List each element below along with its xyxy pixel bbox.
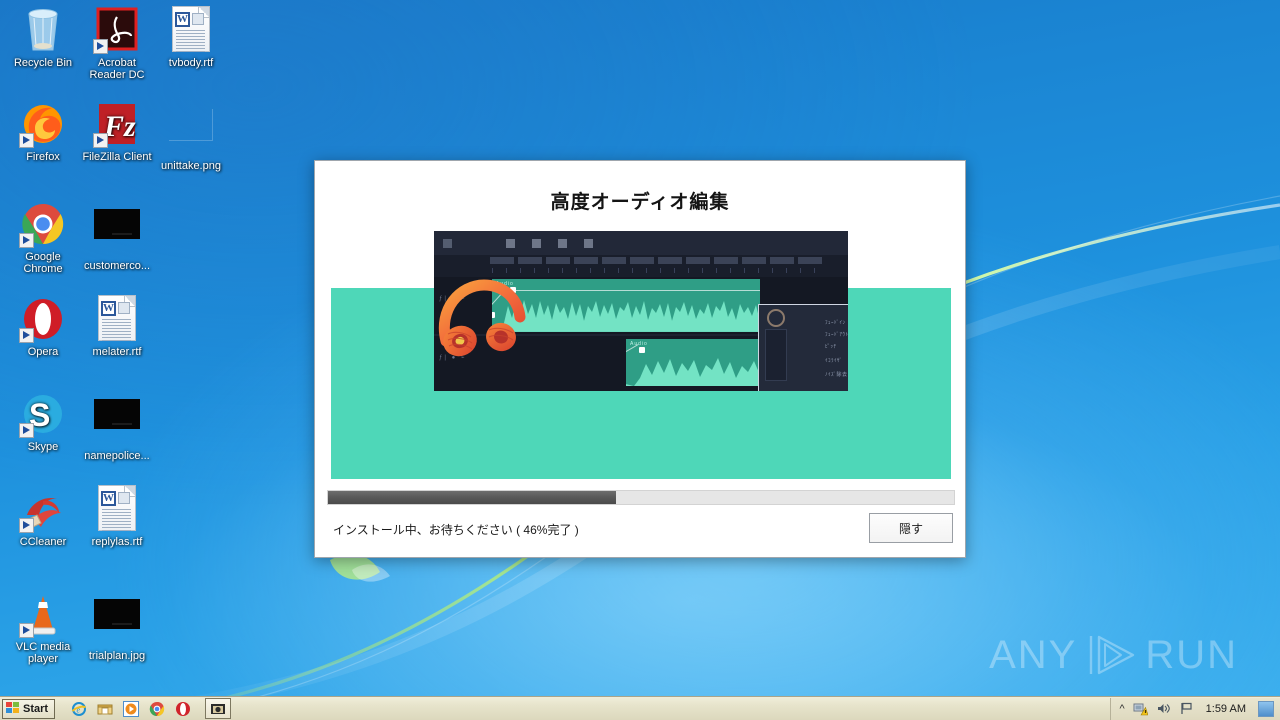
denoise-label: ﾉｲｽﾞ除去 (825, 371, 848, 378)
desktop-icon-label: replylas.rtf (80, 536, 154, 548)
google-chrome-icon[interactable] (149, 701, 165, 717)
svg-text:e: e (77, 705, 81, 714)
task-button-group (205, 698, 231, 719)
desktop-icon-image-file[interactable]: namepolice... (80, 390, 154, 462)
headphones-illustration (434, 279, 529, 364)
desktop-icon-ccleaner[interactable]: CCleaner (6, 485, 80, 548)
shortcut-overlay-icon (19, 328, 34, 343)
desktop-icon-label: melater.rtf (80, 346, 154, 358)
anyrun-watermark: ANY RUN (989, 632, 1238, 678)
desktop-icon-rtf-document[interactable]: Wtvbody.rtf (154, 6, 228, 69)
desktop-icon-label: trialplan.jpg (80, 650, 154, 662)
desktop-icon-png-image[interactable]: unittake.png (154, 100, 228, 172)
image-file-icon (93, 209, 141, 257)
audio-editor-screenshot: ƒ| ● ⌁ Audio ƒ| ● ⌁ Audio (434, 231, 848, 391)
windows-logo-icon (6, 702, 20, 715)
firefox-icon (19, 100, 67, 148)
desktop-icon-vlc[interactable]: VLC media player (6, 590, 80, 665)
rtf-document-icon: W (93, 295, 141, 343)
editor-toolbar (434, 231, 848, 255)
shortcut-overlay-icon (19, 133, 34, 148)
filezilla-icon: Fz (93, 100, 141, 148)
rtf-document-icon: W (93, 485, 141, 533)
start-button-label: Start (23, 703, 48, 715)
taskbar: Start e (0, 696, 1280, 720)
desktop-icon-firefox[interactable]: Firefox (6, 100, 80, 163)
crop-tool-icon (558, 239, 567, 248)
desktop-icon-label: Opera (6, 346, 80, 358)
install-progress-bar (327, 490, 955, 505)
eq-level-meter (765, 329, 787, 381)
desktop-icon-label: Firefox (6, 151, 80, 163)
desktop-icon-label: Acrobat Reader DC (80, 57, 154, 81)
opera-icon[interactable] (175, 701, 191, 717)
acrobat-reader-icon (93, 6, 141, 54)
desktop-icon-recycle-bin[interactable]: Recycle Bin (6, 6, 80, 69)
opera-icon (19, 295, 67, 343)
skype-icon: S (19, 390, 67, 438)
desktop-icon-label: Google Chrome (6, 251, 80, 275)
cursor-tool-icon (443, 239, 452, 248)
action-center-flag-icon[interactable] (1179, 701, 1194, 716)
desktop-icon-label: tvbody.rtf (154, 57, 228, 69)
jpg-image-icon (93, 599, 141, 647)
install-status-text: インストール中、お待ちください ( 46%完了 ) (333, 521, 579, 538)
pitch-label: ﾋﾟｯﾁ (825, 343, 837, 350)
desktop-icon-grid: Recycle BinAcrobat Reader DCWtvbody.rtfF… (0, 0, 240, 690)
system-tray: ^ 1:59 AM (1110, 698, 1280, 720)
ccleaner-icon (19, 485, 67, 533)
desktop-icon-filezilla[interactable]: FzFileZilla Client (80, 100, 154, 163)
installer-task-button[interactable] (205, 698, 231, 719)
speed-tool-icon (584, 239, 593, 248)
desktop-icon-opera[interactable]: Opera (6, 295, 80, 358)
desktop-icon-label: Skype (6, 441, 80, 453)
shortcut-overlay-icon (19, 423, 34, 438)
shortcut-overlay-icon (93, 39, 108, 54)
volume-icon[interactable] (1156, 701, 1171, 716)
waveform-1 (492, 298, 760, 332)
desktop-icon-label: CCleaner (6, 536, 80, 548)
tray-clock[interactable]: 1:59 AM (1206, 703, 1246, 715)
watermark-text-run: RUN (1145, 633, 1238, 678)
shortcut-overlay-icon (19, 233, 34, 248)
install-progress-fill (328, 491, 616, 504)
recycle-bin-icon (19, 6, 67, 54)
desktop-icon-jpg-image[interactable]: trialplan.jpg (80, 590, 154, 662)
hide-button[interactable]: 隠す (869, 513, 953, 543)
desktop-icon-acrobat-reader[interactable]: Acrobat Reader DC (80, 6, 154, 81)
audio-settings-dialog: ﾌｪｰﾄﾞｲﾝ ﾌｪｰﾄﾞｱｳﾄ ﾋﾟｯﾁ ｲｺﾗｲｻﾞ ﾉｲｽﾞ除去 (758, 304, 848, 391)
rtf-document-icon: W (167, 6, 215, 54)
desktop-icon-label: VLC media player (6, 641, 80, 665)
desktop-icon-image-file[interactable]: customerco... (80, 200, 154, 272)
desktop-icon-skype[interactable]: SSkype (6, 390, 80, 453)
delete-tool-icon (506, 239, 515, 248)
fade-in-label: ﾌｪｰﾄﾞｲﾝ (825, 319, 846, 326)
equalizer-label: ｲｺﾗｲｻﾞ (825, 357, 843, 364)
keyframe-dot-4 (639, 347, 645, 353)
quick-launch-bar: e (71, 701, 191, 717)
desktop-icon-label: Recycle Bin (6, 57, 80, 69)
shortcut-overlay-icon (19, 518, 34, 533)
desktop-icon-label: FileZilla Client (80, 151, 154, 163)
start-button[interactable]: Start (2, 699, 55, 719)
cut-tool-icon (532, 239, 541, 248)
eq-dial-knob (767, 309, 785, 327)
image-file-icon (93, 399, 141, 447)
desktop-icon-rtf-document[interactable]: Wmelater.rtf (80, 295, 154, 358)
installer-window[interactable]: 高度オーディオ編集 (314, 160, 966, 558)
internet-explorer-icon[interactable]: e (71, 701, 87, 717)
shortcut-overlay-icon (93, 133, 108, 148)
desktop-icon-rtf-document[interactable]: Wreplylas.rtf (80, 485, 154, 548)
tray-overflow-button[interactable]: ^ (1119, 703, 1124, 715)
desktop-icon-google-chrome[interactable]: Google Chrome (6, 200, 80, 275)
watermark-text-any: ANY (989, 633, 1077, 678)
promo-title: 高度オーディオ編集 (315, 187, 965, 214)
google-chrome-icon (19, 200, 67, 248)
windows-media-player-icon[interactable] (123, 701, 139, 717)
editor-timeline-ruler (434, 255, 848, 277)
desktop-icon-label: namepolice... (80, 450, 154, 462)
audio-clip-1: Audio (492, 279, 760, 332)
png-image-icon (167, 109, 215, 157)
keyframe-line-1 (502, 290, 760, 291)
fade-out-label: ﾌｪｰﾄﾞｱｳﾄ (825, 331, 848, 338)
shortcut-overlay-icon (19, 623, 34, 638)
network-warning-icon[interactable] (1133, 701, 1148, 716)
vlc-icon (19, 590, 67, 638)
show-desktop-button[interactable] (1258, 701, 1274, 717)
desktop-icon-label: customerco... (80, 260, 154, 272)
desktop-icon-label: unittake.png (154, 160, 228, 172)
windows-explorer-icon[interactable] (97, 701, 113, 717)
anyrun-play-logo-icon (1083, 632, 1139, 678)
